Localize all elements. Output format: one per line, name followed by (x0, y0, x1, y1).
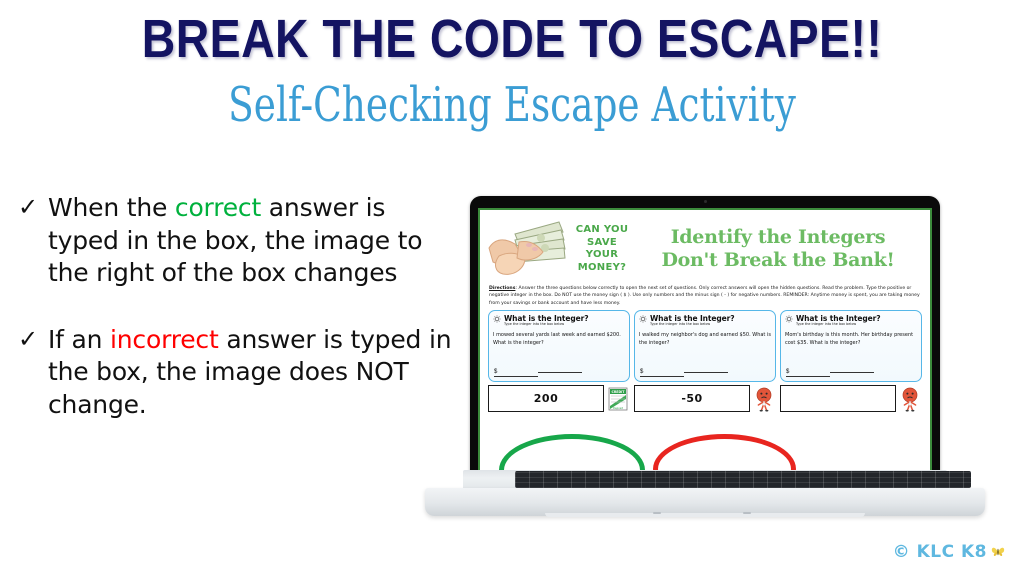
dollar-prefix: $ (494, 369, 538, 377)
checkmark-icon: ✓ (18, 324, 48, 356)
blank-line (538, 365, 582, 373)
butterfly-icon (990, 545, 1006, 559)
spacer-cell (634, 414, 776, 429)
deck-notch (743, 512, 751, 514)
directions-paragraph: Directions: Answer the three questions b… (485, 284, 925, 310)
hands-holding-money-icon (485, 218, 573, 280)
laptop-keyboard (515, 471, 971, 488)
directions-body: : Answer the three questions below corre… (489, 286, 920, 306)
gear-icon (785, 315, 793, 323)
answer-row: 200 CREDIT Deposi (485, 384, 925, 412)
money-question-text: CAN YOU SAVE YOUR MONEY? (573, 224, 631, 274)
sad-red-character-icon (752, 386, 776, 412)
laptop-deck (425, 488, 985, 516)
spacer-cell (488, 414, 630, 429)
question-answer-line: $ (640, 365, 728, 377)
slide-header: CAN YOU SAVE YOUR MONEY? Identify the In… (485, 214, 925, 284)
activity-slide: CAN YOU SAVE YOUR MONEY? Identify the In… (480, 210, 930, 488)
slide-title-line1: Identify the Integers (631, 226, 925, 249)
bullet-list: ✓ When the correct answer is typed in th… (18, 192, 458, 455)
answer-cell-1: 200 CREDIT Deposi (488, 385, 630, 412)
credit-deposit-slip-icon: CREDIT Deposit (606, 386, 630, 412)
dollar-prefix: $ (640, 369, 684, 377)
bullet-text-part1: If an (48, 325, 110, 354)
spacer-cell (780, 414, 922, 429)
watermark-text: © KLC K8 (893, 542, 987, 562)
svg-text:CREDIT: CREDIT (612, 390, 626, 394)
question-row: What is the Integer? Type the integer in… (485, 310, 925, 382)
question-body: I mowed several yards last week and earn… (493, 332, 625, 347)
answer-input-2[interactable]: -50 (634, 385, 750, 412)
question-card-3: What is the Integer? Type the integer in… (780, 310, 922, 382)
laptop-base (425, 470, 985, 516)
dollar-prefix: $ (786, 369, 830, 377)
list-item: ✓ If an incorrect answer is typed in the… (18, 324, 458, 422)
blank-line (830, 365, 874, 373)
checkmark-icon: ✓ (18, 192, 48, 224)
deck-notch (653, 512, 661, 514)
page-title: BREAK THE CODE TO ESCAPE!! (72, 12, 953, 66)
laptop-lid: CAN YOU SAVE YOUR MONEY? Identify the In… (470, 196, 940, 496)
gear-icon (639, 315, 647, 323)
answer-cell-2: -50 (634, 385, 776, 412)
bullet-highlight-correct: correct (175, 193, 261, 222)
slide-title-line2: Don't Break the Bank! (631, 249, 925, 272)
answer-input-3[interactable] (780, 385, 896, 412)
slide-title: Identify the Integers Don't Break the Ba… (631, 226, 925, 272)
bullet-text: If an incorrect answer is typed in the b… (48, 324, 458, 422)
directions-label: Directions (489, 286, 515, 291)
watermark: © KLC K8 (893, 542, 1006, 562)
question-answer-line: $ (786, 365, 874, 377)
question-card-1: What is the Integer? Type the integer in… (488, 310, 630, 382)
bullet-text: When the correct answer is typed in the … (48, 192, 458, 290)
webcam-icon (704, 200, 707, 203)
question-card-2: What is the Integer? Type the integer in… (634, 310, 776, 382)
gear-icon (493, 315, 501, 323)
list-item: ✓ When the correct answer is typed in th… (18, 192, 458, 290)
laptop-hinge (463, 470, 947, 490)
page-subtitle: Self-Checking Escape Activity (113, 80, 912, 130)
laptop-mockup: CAN YOU SAVE YOUR MONEY? Identify the In… (425, 196, 985, 526)
laptop-screen: CAN YOU SAVE YOUR MONEY? Identify the In… (478, 208, 932, 490)
laptop-front-lip (545, 513, 865, 517)
bullet-text-part1: When the (48, 193, 175, 222)
spacer-row (485, 412, 925, 429)
question-answer-line: $ (494, 365, 582, 377)
answer-cell-3 (780, 385, 922, 412)
blank-line (684, 365, 728, 373)
svg-text:Deposit: Deposit (613, 406, 623, 410)
question-body: Mom's birthday is this month. Her birthd… (785, 332, 917, 347)
title-block: BREAK THE CODE TO ESCAPE!! Self-Checking… (0, 12, 1024, 130)
answer-input-1[interactable]: 200 (488, 385, 604, 412)
question-body: I walked my neighbor's dog and earned $5… (639, 332, 771, 347)
sad-red-character-icon (898, 386, 922, 412)
bullet-highlight-incorrect: incorrect (110, 325, 219, 354)
